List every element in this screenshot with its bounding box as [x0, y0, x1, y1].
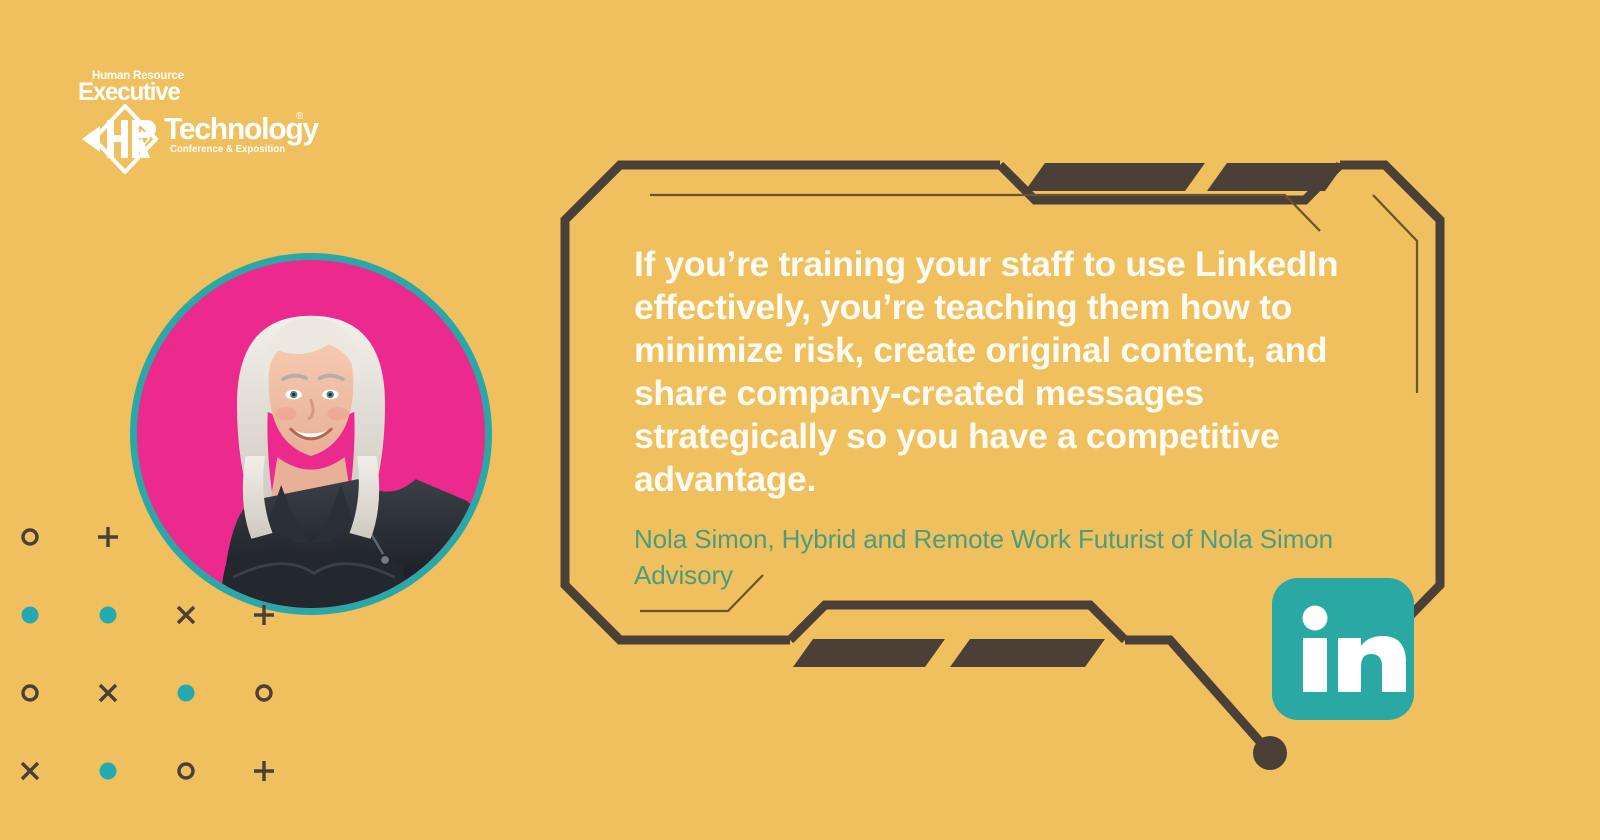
- deco-plus-icon: [91, 520, 125, 554]
- logo-conference-exposition-text: Conference & Exposition: [170, 144, 285, 155]
- deco-circle-outline-icon: [169, 754, 203, 788]
- hr-technology-logo[interactable]: Human Resource Executive: [78, 70, 318, 180]
- linkedin-icon[interactable]: [1272, 578, 1414, 720]
- deco-dot-icon: [13, 598, 47, 632]
- deco-dot-icon: [91, 598, 125, 632]
- deco-circle-outline-icon: [13, 676, 47, 710]
- quote-text: If you’re training your staff to use Lin…: [634, 243, 1404, 501]
- quote-card-canvas: Human Resource Executive: [0, 0, 1600, 840]
- frame-dash-top-right: [1207, 163, 1345, 191]
- frame-tail-dot: [1253, 736, 1287, 770]
- quote-attribution: Nola Simon, Hybrid and Remote Work Futur…: [634, 521, 1364, 593]
- deco-dot-icon: [169, 676, 203, 710]
- frame-dash-bottom-right: [950, 639, 1105, 667]
- deco-plus-icon: [247, 754, 281, 788]
- deco-cross-icon: [91, 676, 125, 710]
- deco-circle-outline-icon: [13, 520, 47, 554]
- deco-cross-icon: [169, 598, 203, 632]
- hr-diamond-emblem-icon: [80, 104, 170, 174]
- frame-dash-bottom-left: [793, 639, 945, 667]
- logo-executive-text: Executive: [78, 79, 180, 106]
- hr-technology-wordmark: Technology ® Conference & Exposition: [80, 104, 316, 174]
- deco-cross-icon: [13, 754, 47, 788]
- logo-registered-mark: ®: [296, 112, 303, 122]
- deco-circle-outline-icon: [247, 676, 281, 710]
- quote-block: If you’re training your staff to use Lin…: [634, 243, 1404, 501]
- deco-dot-icon: [91, 754, 125, 788]
- deco-plus-icon: [247, 598, 281, 632]
- logo-technology-text: Technology: [164, 112, 318, 145]
- human-resource-executive-logo: Human Resource Executive: [78, 70, 203, 108]
- frame-dash-top-left: [1025, 163, 1205, 191]
- symbol-grid: [0, 490, 320, 820]
